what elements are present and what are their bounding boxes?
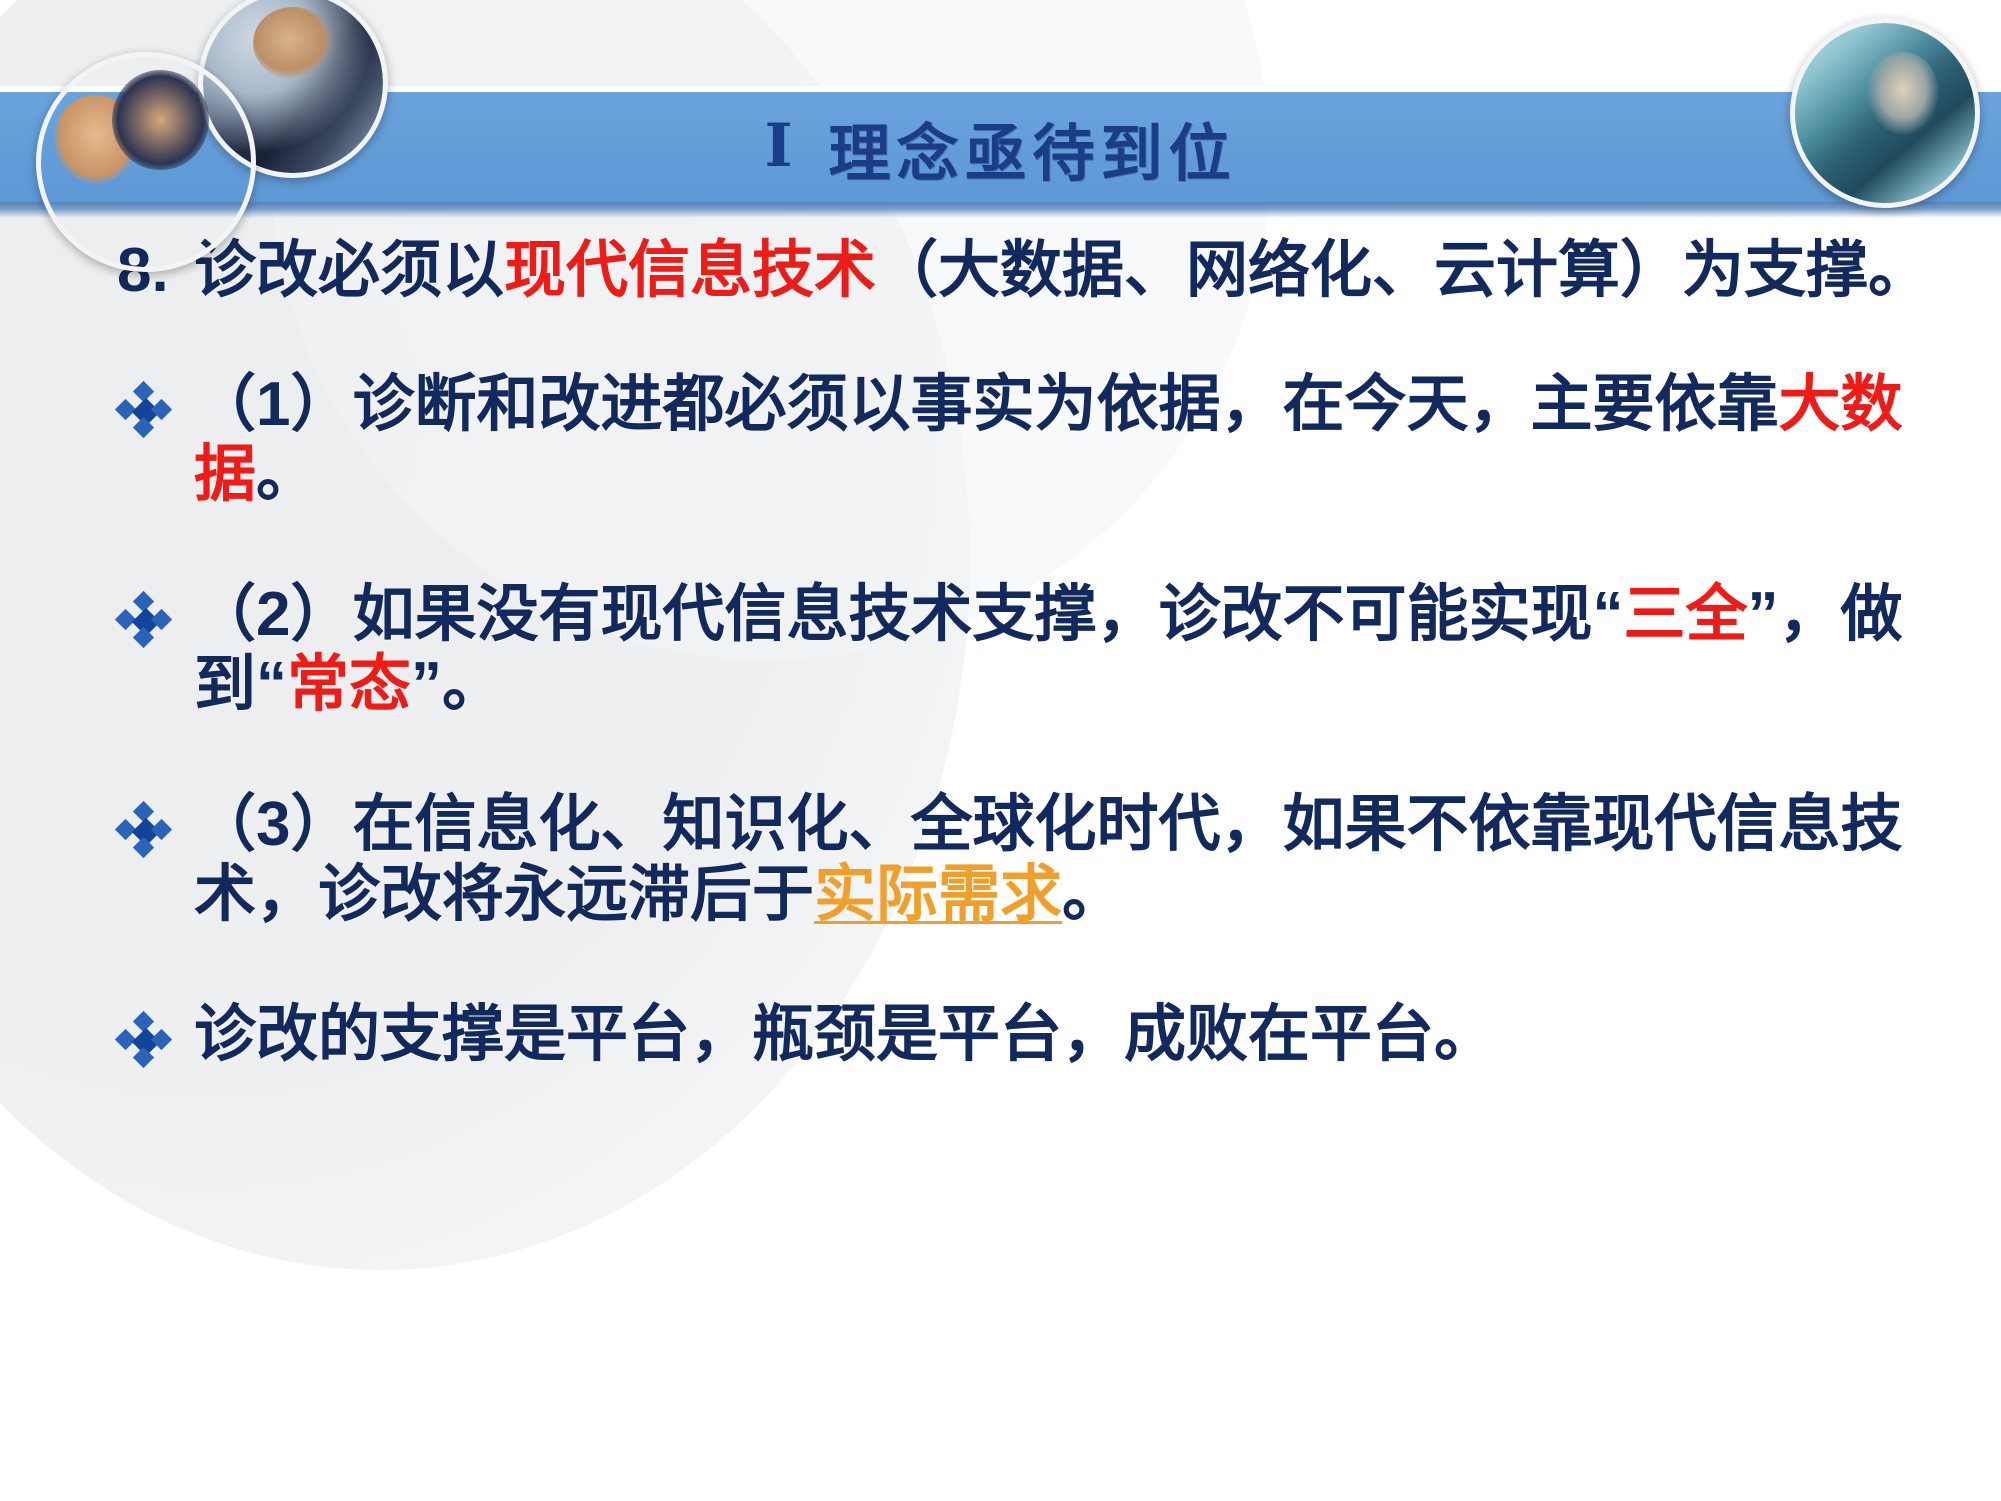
photo-bubble-left-image [41,57,251,267]
spacer [0,720,2001,790]
bullet-item-2: （2）如果没有现代信息技术支撑，诊改不可能实现“三全”，做到“常态”。 [118,580,1994,720]
diamond-bullet-icon [120,1016,172,1068]
bullet-4-segment-0: 诊改的支撑是平台，瓶颈是平台，成败在平台。 [194,1000,1496,1069]
diamond-bullet-icon [120,596,172,648]
item-8-line2: 支撑。 [1744,236,1930,305]
bullet-1-segment-2: 。 [256,440,318,509]
bullet-2-segment-0: （2）如果没有现代信息技术支撑，诊改不可能实现“ [194,580,1623,649]
presentation-slide: Ⅰ 理念亟待到位 8. 诊改必须以现代信息技术（大数据、网络化、云计算）为支撑。… [0,0,2001,1501]
item-8-line1-highlight: 现代信息技术 [504,236,876,305]
numbered-item-8: 8. 诊改必须以现代信息技术（大数据、网络化、云计算）为支撑。 [118,236,1984,306]
diamond-bullet-icon [120,386,172,438]
spacer [0,930,2001,1000]
bullet-3-segment-2: 。 [1062,860,1124,929]
header-band-shadow [0,202,2001,218]
photo-bubble-right [1790,18,1980,208]
slide-body: 8. 诊改必须以现代信息技术（大数据、网络化、云计算）为支撑。 （1）诊断和改进… [0,236,2001,1070]
photo-bubble-left [36,52,256,272]
bullet-2-segment-4: ”。 [411,650,504,719]
spacer [0,510,2001,580]
item-8-line1-part-a: 诊改必须以 [194,236,504,305]
bullet-item-4: 诊改的支撑是平台，瓶颈是平台，成败在平台。 [118,1000,1994,1070]
bullet-1-segment-0: （1）诊断和改进都必须以事实为依据，在今天，主要依靠 [194,370,1778,439]
diamond-bullet-icon [120,806,172,858]
bullet-item-3: （3）在信息化、知识化、全球化时代，如果不依靠现代信息技术，诊改将永远滞后于实际… [118,790,1994,930]
bullet-3-segment-1: 实际需求 [814,860,1062,929]
bullet-2-segment-1: 三全 [1623,580,1747,649]
title-text: 理念亟待到位 [829,103,1237,193]
item-8-line1-part-b: （大数据、网络化、云计算）为 [876,236,1744,305]
spacer [0,306,2001,370]
bullet-2-segment-3: 常态 [287,650,411,719]
title-roman-numeral: Ⅰ [764,111,794,181]
bullet-item-1: （1）诊断和改进都必须以事实为依据，在今天，主要依靠大数据。 [118,370,1994,510]
photo-bubble-right-image [1795,23,1975,203]
